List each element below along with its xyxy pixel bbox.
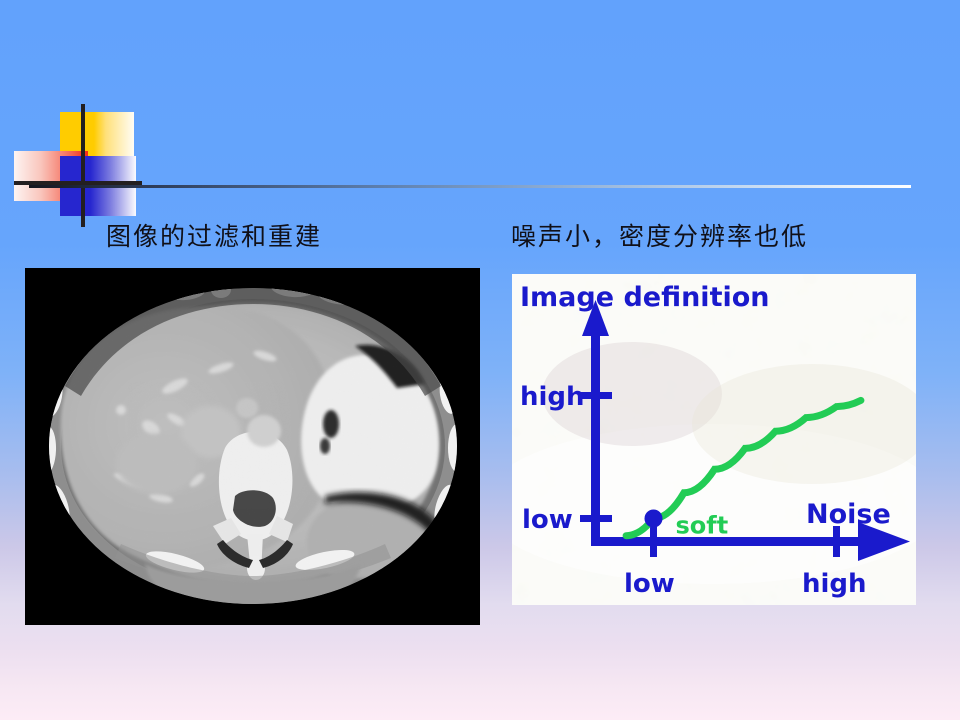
chart-xtick-high: high — [802, 569, 867, 599]
heading-left: 图像的过滤和重建 — [106, 217, 322, 253]
chart-point-soft — [645, 510, 663, 528]
chart-point-soft-label: soft — [676, 512, 729, 540]
slide-canvas: 图像的过滤和重建 噪声小，密度分辨率也低 — [0, 0, 960, 720]
ct-scan-image — [25, 268, 480, 625]
chart-x-axis-title: Noise — [806, 499, 891, 530]
decorative-logo — [14, 104, 154, 204]
logo-crosshair-vertical — [81, 104, 85, 227]
chart-xtick-low: low — [624, 569, 675, 599]
divider-rule — [29, 185, 911, 188]
chart-ytick-low: low — [522, 505, 573, 535]
chart-y-axis-title: Image definition — [520, 282, 770, 313]
noise-definition-chart: Image definition high low l — [512, 274, 916, 605]
heading-right: 噪声小，密度分辨率也低 — [511, 217, 808, 253]
chart-ytick-high: high — [520, 382, 585, 412]
